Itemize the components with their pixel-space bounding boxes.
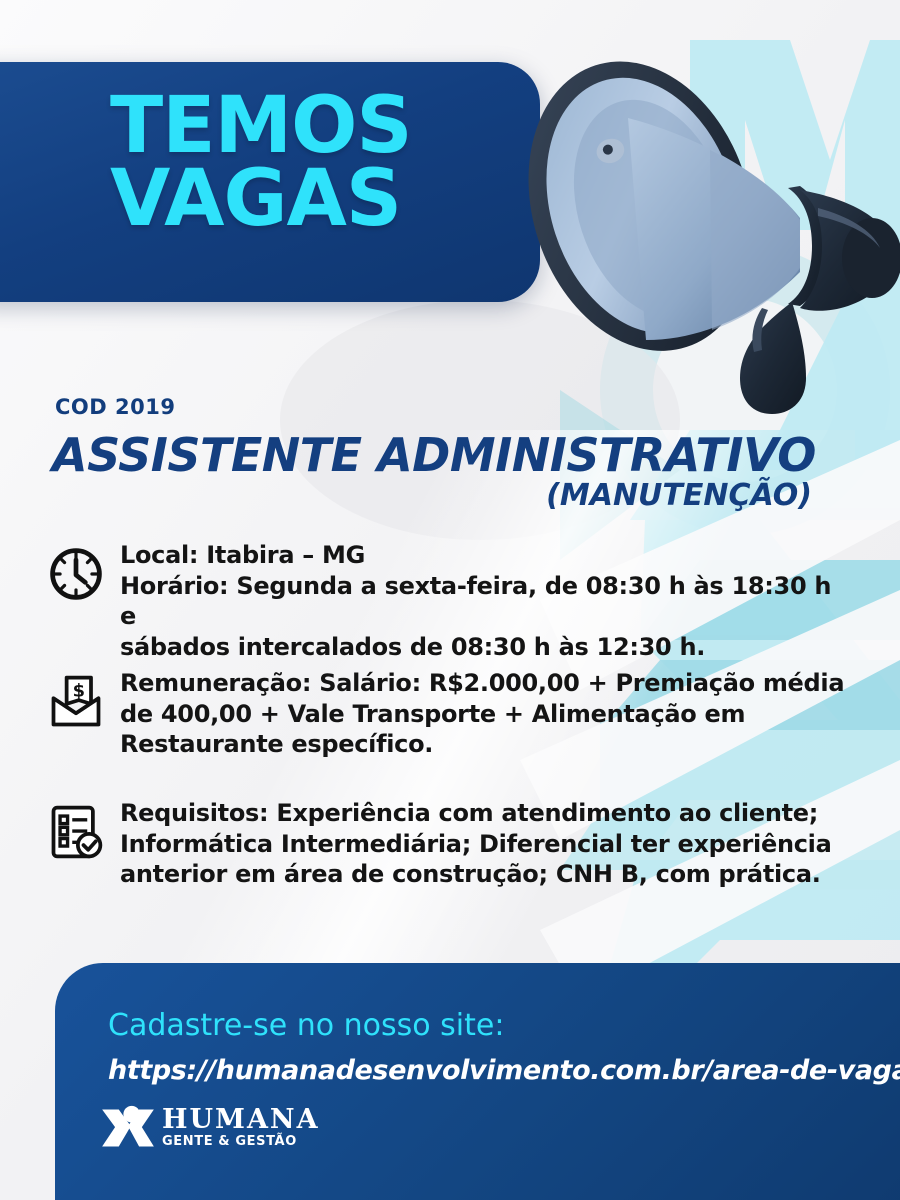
header-line-2: VAGAS	[110, 163, 412, 236]
money-envelope-icon: $	[46, 668, 120, 737]
svg-text:$: $	[73, 680, 85, 701]
detail-row-requirements: Requisitos: Experiência com atendimento …	[46, 798, 846, 890]
detail-line: sábados intercalados de 08:30 h às 12:30…	[120, 632, 846, 663]
detail-text-schedule: Local: Itabira – MG Horário: Segunda a s…	[120, 540, 846, 663]
detail-text-requirements: Requisitos: Experiência com atendimento …	[120, 798, 832, 890]
detail-line: Restaurante específico.	[120, 729, 844, 760]
company-logo: HUMANA GENTE & GESTÃO	[100, 1104, 320, 1152]
logo-text: HUMANA GENTE & GESTÃO	[162, 1106, 320, 1149]
detail-text-compensation: Remuneração: Salário: R$2.000,00 + Premi…	[120, 668, 844, 760]
logo-tagline: GENTE & GESTÃO	[162, 1135, 320, 1149]
job-subtitle: (MANUTENÇÃO)	[52, 478, 812, 513]
page-title: TEMOS VAGAS	[110, 90, 412, 235]
application-url[interactable]: https://humanadesenvolvimento.com.br/are…	[108, 1055, 900, 1086]
detail-line: Remuneração: Salário: R$2.000,00 + Premi…	[120, 668, 844, 699]
job-vacancy-poster: TEMOS VAGAS	[0, 0, 900, 1200]
detail-line: Local: Itabira – MG	[120, 540, 846, 571]
detail-line: Horário: Segunda a sexta-feira, de 08:30…	[120, 571, 846, 632]
megaphone-icon	[500, 10, 900, 430]
detail-row-compensation: $ Remuneração: Salário: R$2.000,00 + Pre…	[46, 668, 846, 760]
checklist-icon	[46, 798, 120, 867]
job-title: ASSISTENTE ADMINISTRATIVO	[52, 428, 816, 482]
clock-icon	[46, 540, 120, 609]
detail-row-schedule: Local: Itabira – MG Horário: Segunda a s…	[46, 540, 846, 663]
detail-line: Requisitos: Experiência com atendimento …	[120, 798, 832, 829]
detail-line: Informática Intermediária; Diferencial t…	[120, 829, 832, 860]
detail-line: anterior em área de construção; CNH B, c…	[120, 859, 832, 890]
job-code: COD 2019	[55, 395, 175, 419]
detail-line: de 400,00 + Vale Transporte + Alimentaçã…	[120, 699, 844, 730]
logo-company-name: HUMANA	[162, 1106, 320, 1133]
humana-x-logo-icon	[100, 1104, 156, 1152]
footer-cta-text: Cadastre-se no nosso site:	[108, 1008, 504, 1043]
